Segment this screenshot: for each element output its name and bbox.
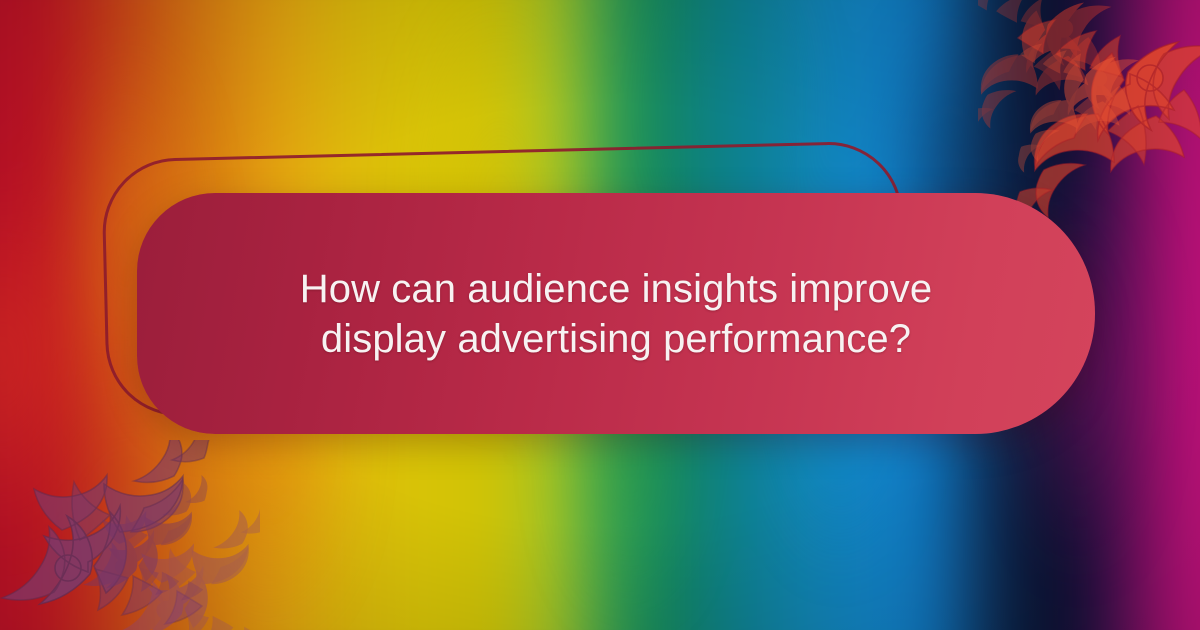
banner-stage: How can audience insights improve displa…: [0, 0, 1200, 630]
headline-card: How can audience insights improve displa…: [137, 193, 1095, 434]
page-title: How can audience insights improve displa…: [176, 264, 1056, 364]
